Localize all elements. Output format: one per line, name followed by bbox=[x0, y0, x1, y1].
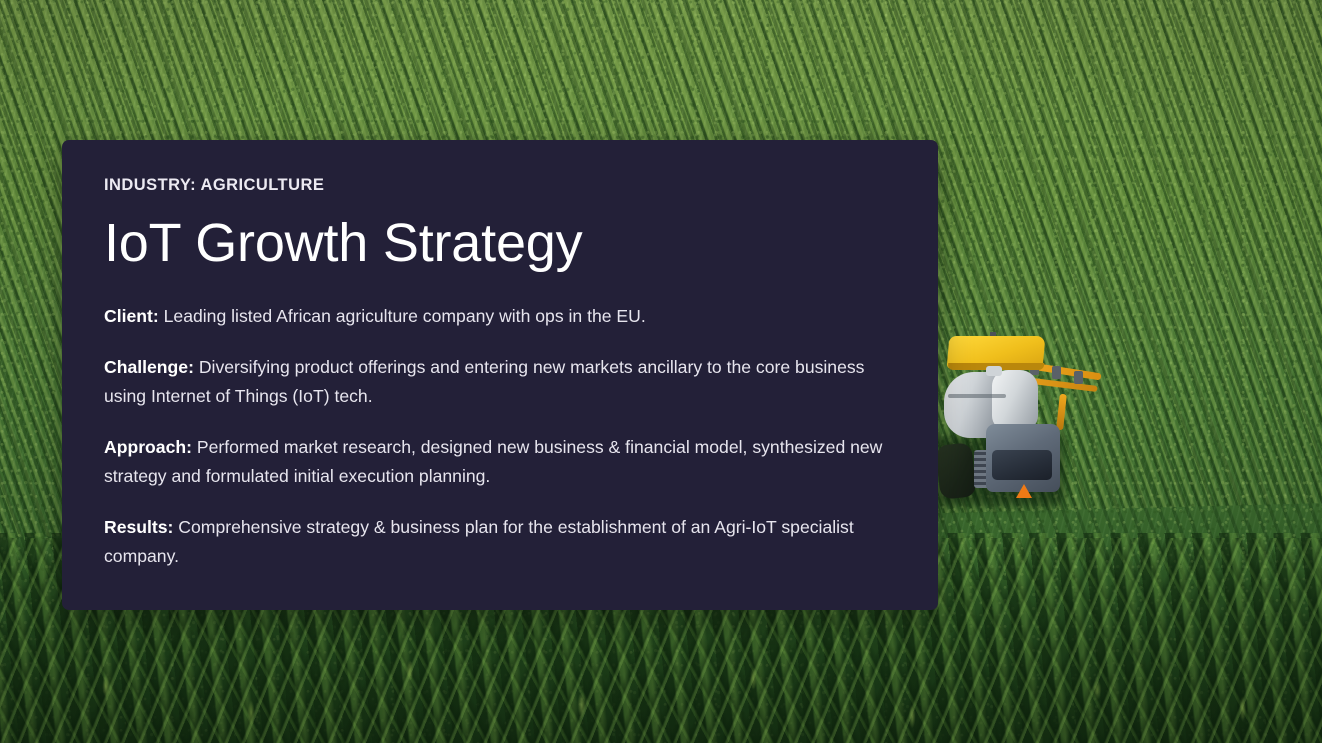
section-label-challenge: Challenge: bbox=[104, 357, 194, 377]
boom-nozzle bbox=[1074, 371, 1083, 384]
case-study-card: INDUSTRY: AGRICULTURE IoT Growth Strateg… bbox=[62, 140, 938, 610]
section-client: Client: Leading listed African agricultu… bbox=[104, 302, 894, 331]
boom-nozzle bbox=[1052, 366, 1061, 379]
section-challenge: Challenge: Diversifying product offering… bbox=[104, 353, 894, 410]
section-label-approach: Approach: bbox=[104, 437, 192, 457]
sprayer-tractor bbox=[930, 332, 1100, 514]
tractor-rear-panel bbox=[992, 450, 1052, 480]
section-text-client: Leading listed African agriculture compa… bbox=[159, 306, 646, 326]
section-text-approach: Performed market research, designed new … bbox=[104, 437, 882, 486]
section-approach: Approach: Performed market research, des… bbox=[104, 433, 894, 490]
page-title: IoT Growth Strategy bbox=[104, 214, 896, 272]
section-results: Results: Comprehensive strategy & busine… bbox=[104, 513, 894, 570]
tractor-wheel bbox=[935, 442, 976, 499]
section-text-results: Comprehensive strategy & business plan f… bbox=[104, 517, 854, 566]
section-label-results: Results: bbox=[104, 517, 173, 537]
tractor-boom-support bbox=[1056, 394, 1067, 431]
section-text-challenge: Diversifying product offerings and enter… bbox=[104, 357, 864, 406]
section-label-client: Client: bbox=[104, 306, 159, 326]
tractor-tank-right bbox=[992, 370, 1038, 430]
tractor-tank-cap bbox=[986, 366, 1002, 376]
tractor-tank-band bbox=[948, 394, 1006, 398]
industry-eyebrow: INDUSTRY: AGRICULTURE bbox=[104, 177, 896, 194]
